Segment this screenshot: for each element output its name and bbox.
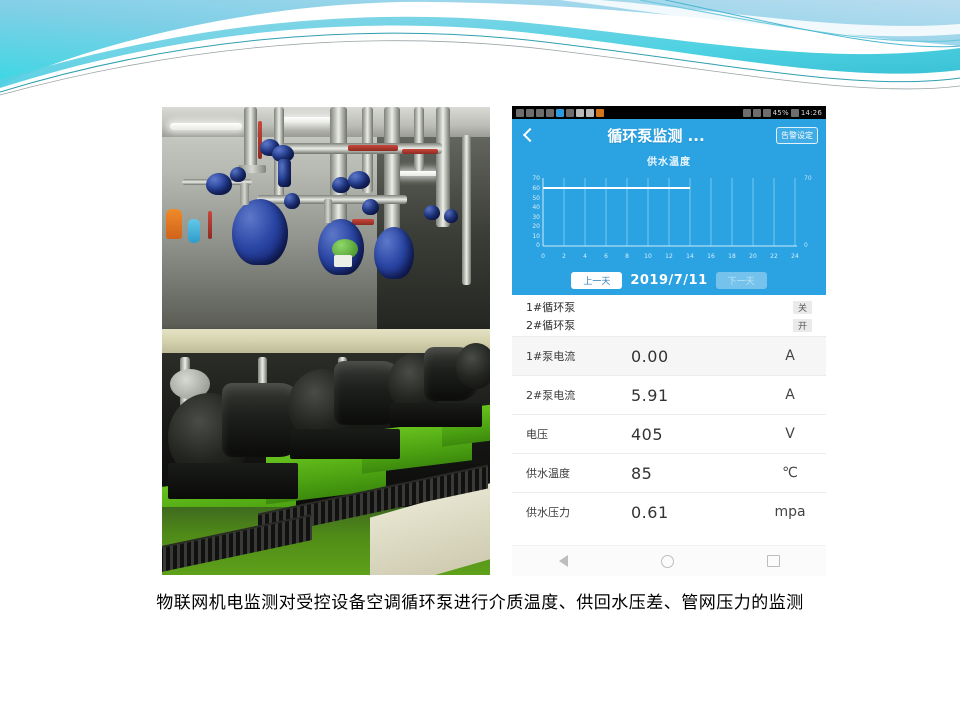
sim-icon: [753, 109, 761, 117]
pump-status-list: 1#循环泵 关 2#循环泵 开: [512, 295, 826, 336]
metric-label: 供水温度: [526, 465, 631, 481]
current-date-label: 2019/7/11: [630, 273, 707, 288]
table-row[interactable]: 2#泵电流 5.91 A: [512, 375, 826, 414]
svg-text:20: 20: [749, 253, 757, 260]
svg-text:22: 22: [770, 253, 778, 260]
previous-day-button[interactable]: 上一天: [571, 272, 622, 289]
svg-text:20: 20: [532, 223, 540, 230]
link-icon: [566, 109, 574, 117]
back-triangle-icon[interactable]: [559, 555, 568, 567]
notification-icon: [516, 109, 524, 117]
pump-room-photo: [162, 107, 490, 575]
slide-caption: 物联网机电监测对受控设备空调循环泵进行介质温度、供回水压差、管网压力的监测: [0, 588, 960, 613]
table-row[interactable]: 供水压力 0.61 mpa: [512, 492, 826, 531]
metric-unit: V: [768, 426, 812, 442]
date-navigation: 上一天 2019/7/11 下一天: [512, 268, 826, 295]
metric-unit: A: [768, 348, 812, 364]
svg-text:0: 0: [536, 242, 540, 249]
android-status-bar: 45% 14:26: [512, 106, 826, 119]
notification-icon: [526, 109, 534, 117]
status-bar-right-icons: 45% 14:26: [743, 109, 822, 117]
svg-text:10: 10: [532, 233, 540, 240]
slide-canvas: 45% 14:26 循环泵监测 ... 告警设定 供水温度: [0, 0, 960, 720]
shield-icon: [763, 109, 771, 117]
app-title-bar: 循环泵监测 ... 告警设定: [512, 119, 826, 151]
table-row[interactable]: 供水温度 85 ℃: [512, 453, 826, 492]
metric-unit: mpa: [768, 504, 812, 520]
pump-label: 1#循环泵: [526, 299, 575, 315]
svg-text:50: 50: [532, 195, 540, 202]
svg-text:0: 0: [541, 253, 545, 260]
svg-text:40: 40: [532, 204, 540, 211]
table-row[interactable]: 1#泵电流 0.00 A: [512, 336, 826, 375]
status-bar-left-icons: [516, 109, 604, 117]
battery-icon: [791, 109, 799, 117]
svg-text:12: 12: [665, 253, 673, 260]
svg-text:70: 70: [804, 175, 812, 182]
svg-text:2: 2: [562, 253, 566, 260]
status-badge: 开: [793, 319, 812, 332]
clock-label: 14:26: [801, 109, 822, 117]
svg-text:18: 18: [728, 253, 736, 260]
metric-label: 电压: [526, 426, 631, 442]
page-title: 循环泵监测 ...: [536, 125, 776, 146]
svg-text:24: 24: [791, 253, 799, 260]
svg-text:8: 8: [625, 253, 629, 260]
back-chevron-icon[interactable]: [520, 127, 536, 143]
metric-label: 1#泵电流: [526, 348, 631, 364]
metric-value: 0.00: [631, 347, 768, 366]
chart-title: 供水温度: [512, 153, 826, 168]
calendar-icon: [586, 109, 594, 117]
svg-text:14: 14: [686, 253, 694, 260]
svg-text:0: 0: [804, 242, 808, 249]
metric-value: 405: [631, 425, 768, 444]
download-icon: [596, 109, 604, 117]
list-item[interactable]: 1#循环泵 关: [512, 298, 826, 316]
signal-bars-icon: [536, 109, 544, 117]
battery-percent-label: 45%: [773, 109, 789, 117]
svg-text:10: 10: [644, 253, 652, 260]
svg-text:4: 4: [583, 253, 587, 260]
svg-text:6: 6: [604, 253, 608, 260]
table-row[interactable]: 电压 405 V: [512, 414, 826, 453]
mobile-app-screenshot: 45% 14:26 循环泵监测 ... 告警设定 供水温度: [512, 106, 826, 576]
metric-unit: ℃: [768, 465, 812, 481]
svg-text:70: 70: [532, 175, 540, 182]
app-notification-icon: [556, 109, 564, 117]
recents-square-icon[interactable]: [767, 555, 780, 567]
metric-unit: A: [768, 387, 812, 403]
android-navigation-bar: [512, 545, 826, 576]
metric-value: 0.61: [631, 503, 768, 522]
home-circle-icon[interactable]: [661, 555, 674, 568]
svg-text:30: 30: [532, 214, 540, 221]
alarm-settings-button[interactable]: 告警设定: [776, 127, 818, 144]
metric-label: 供水压力: [526, 504, 631, 520]
supply-temperature-line-chart[interactable]: 7060 5040 3020 100 02 46 810 1214 1618 2…: [519, 168, 819, 264]
pump-label: 2#循环泵: [526, 317, 575, 333]
eye-icon: [743, 109, 751, 117]
metric-value: 5.91: [631, 386, 768, 405]
svg-text:60: 60: [532, 185, 540, 192]
metric-value: 85: [631, 464, 768, 483]
svg-text:16: 16: [707, 253, 715, 260]
signal-bars-icon: [546, 109, 554, 117]
next-day-button[interactable]: 下一天: [716, 272, 767, 289]
status-badge: 关: [793, 301, 812, 314]
message-icon: [576, 109, 584, 117]
temperature-chart-panel: 供水温度: [512, 151, 826, 268]
list-item[interactable]: 2#循环泵 开: [512, 316, 826, 334]
decorative-header-banner: [0, 0, 960, 100]
metric-label: 2#泵电流: [526, 387, 631, 403]
